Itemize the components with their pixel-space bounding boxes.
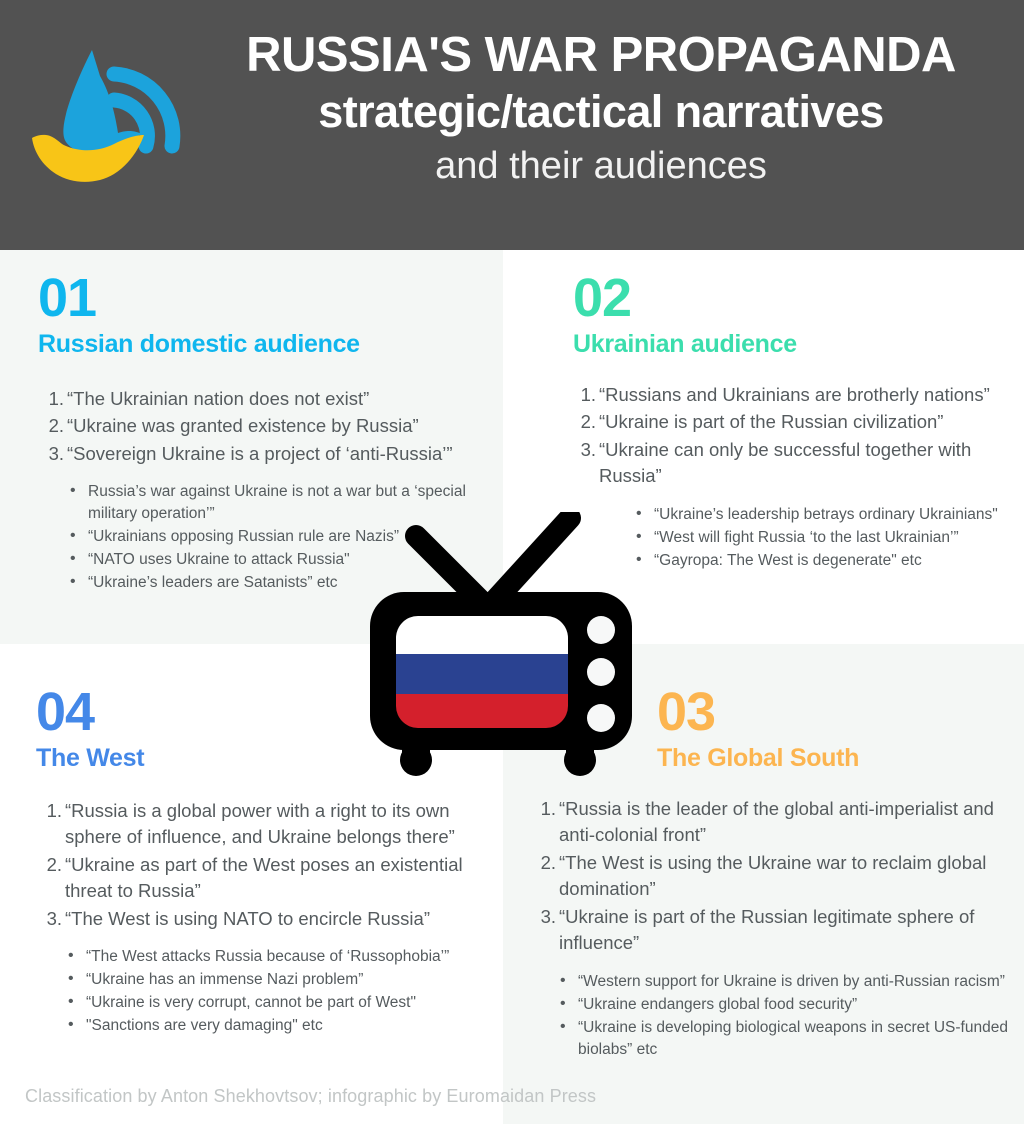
infographic-page: RUSSIA'S WAR PROPAGANDA strategic/tactic… [0, 0, 1024, 1124]
list-item: “Sovereign Ukraine is a project of ‘anti… [38, 441, 490, 467]
footer-credit: Classification by Anton Shekhovtsov; inf… [25, 1086, 596, 1107]
quadrant-03-heading: 03 The Global South [657, 686, 1007, 772]
list-item: “Ukraine is part of the Russian legitima… [530, 904, 1010, 957]
quadrant-02-number: 02 [573, 272, 1003, 325]
header-banner: RUSSIA'S WAR PROPAGANDA strategic/tactic… [0, 0, 1024, 250]
list-item: “Ukraine endangers global food security” [552, 994, 1010, 1016]
page-subtitle: strategic/tactical narratives [196, 85, 1006, 138]
list-item: “The West is using the Ukraine war to re… [530, 850, 1010, 903]
quadrant-03-audience: The Global South [657, 745, 1007, 773]
list-item: “Russia is the leader of the global anti… [530, 796, 1010, 849]
quadrant-02-heading: 02 Ukrainian audience [573, 272, 1003, 358]
list-item: “The West attacks Russia because of ‘Rus… [60, 946, 496, 968]
television-russian-flag-icon [358, 512, 642, 790]
list-item: “Western support for Ukraine is driven b… [552, 971, 1010, 993]
list-item: "Sanctions are very damaging" etc [60, 1015, 496, 1037]
quadrant-03-lists: “Russia is the leader of the global anti… [530, 796, 1010, 1062]
quadrant-04-tactical-list: “The West attacks Russia because of ‘Rus… [60, 946, 496, 1037]
quadrant-02-tactical-list: “Ukraine’s leadership betrays ordinary U… [628, 504, 1010, 572]
list-item: “Ukraine is part of the Russian civiliza… [570, 409, 1010, 435]
quadrant-03-strategic-list: “Russia is the leader of the global anti… [530, 796, 1010, 957]
quadrant-04-lists: “Russia is a global power with a right t… [36, 798, 496, 1038]
list-item: “West will fight Russia ‘to the last Ukr… [628, 527, 1010, 549]
list-item: “Ukraine is developing biological weapon… [552, 1017, 1010, 1061]
quadrant-01-number: 01 [38, 272, 478, 325]
list-item: “Ukraine’s leadership betrays ordinary U… [628, 504, 1010, 526]
euromaidan-press-dove-logo [22, 42, 192, 187]
list-item: “Gayropa: The West is degenerate" etc [628, 550, 1010, 572]
list-item: “Ukraine has an immense Nazi problem” [60, 969, 496, 991]
list-item: “The West is using NATO to encircle Russ… [36, 906, 496, 932]
quadrant-04-strategic-list: “Russia is a global power with a right t… [36, 798, 496, 932]
quadrant-02-audience: Ukrainian audience [573, 331, 1003, 359]
quadrant-03-number: 03 [657, 686, 1007, 739]
list-item: “Ukraine can only be successful together… [570, 437, 1010, 490]
list-item: “Ukraine was granted existence by Russia… [38, 413, 490, 439]
quadrant-02-strategic-list: “Russians and Ukrainians are brotherly n… [570, 382, 1010, 490]
page-subtitle-secondary: and their audiences [196, 144, 1006, 190]
quadrant-01-heading: 01 Russian domestic audience [38, 272, 478, 358]
list-item: “Ukraine is very corrupt, cannot be part… [60, 992, 496, 1014]
page-title: RUSSIA'S WAR PROPAGANDA [196, 28, 1006, 83]
quadrant-01-audience: Russian domestic audience [38, 331, 478, 359]
quadrant-03-tactical-list: “Western support for Ukraine is driven b… [552, 971, 1010, 1061]
list-item: “Russians and Ukrainians are brotherly n… [570, 382, 1010, 408]
list-item: “Russia is a global power with a right t… [36, 798, 496, 851]
list-item: “The Ukrainian nation does not exist” [38, 386, 490, 412]
list-item: “Ukraine as part of the West poses an ex… [36, 852, 496, 905]
header-title-block: RUSSIA'S WAR PROPAGANDA strategic/tactic… [196, 28, 1006, 190]
quadrant-01-strategic-list: “The Ukrainian nation does not exist” “U… [38, 386, 490, 467]
